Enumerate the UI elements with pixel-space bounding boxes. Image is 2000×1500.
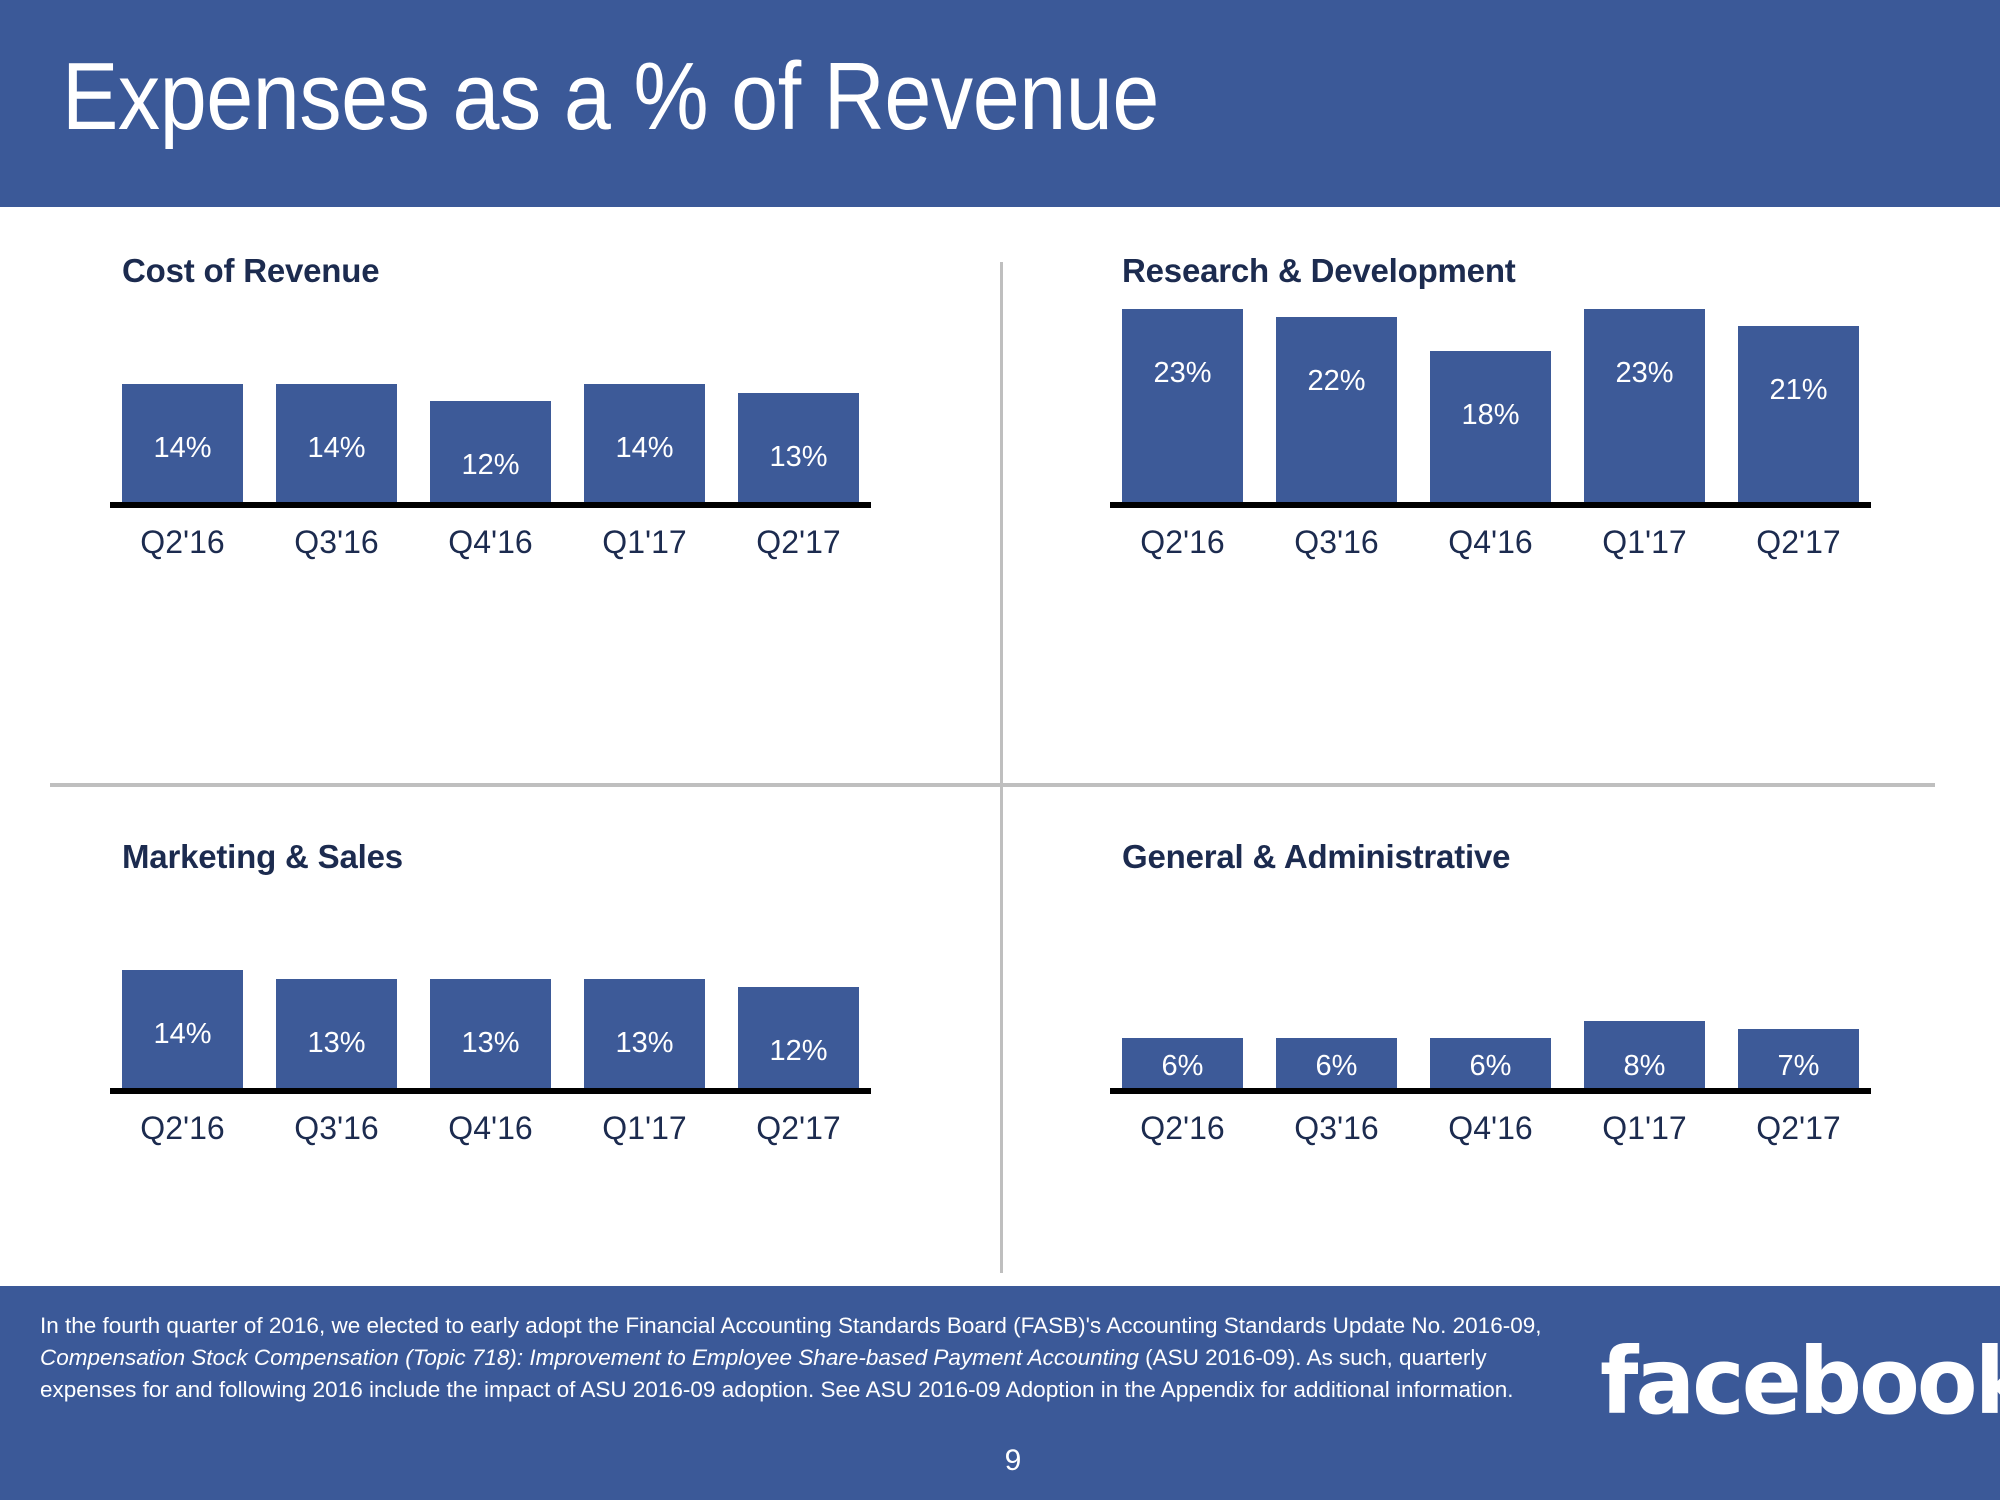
- x-axis-tick-label: Q2'16: [122, 1110, 243, 1147]
- footnote-text: In the fourth quarter of 2016, we electe…: [40, 1310, 1600, 1406]
- x-axis-tick-label: Q2'16: [1122, 524, 1243, 561]
- bar: [1122, 309, 1243, 502]
- chart-panel-cost-of-revenue: Cost of Revenue14%14%12%14%13%Q2'16Q3'16…: [122, 252, 912, 732]
- x-axis-tick-label: Q4'16: [1430, 1110, 1551, 1147]
- x-axis-line: [1110, 502, 1871, 508]
- bar: [1276, 1038, 1397, 1088]
- slide-header-band: Expenses as a % of Revenue: [0, 0, 2000, 207]
- page-title: Expenses as a % of Revenue: [62, 22, 1159, 172]
- footnote-line-2-rest: (ASU 2016-09). As such, quarterly: [1139, 1345, 1487, 1370]
- x-axis-tick-label: Q2'17: [738, 1110, 859, 1147]
- footnote-line-2-italic: Compensation Stock Compensation (Topic 7…: [40, 1345, 1139, 1370]
- x-axis-tick-label: Q2'16: [122, 524, 243, 561]
- bar: [1738, 326, 1859, 502]
- bar: [1276, 317, 1397, 502]
- page-number: 9: [0, 1444, 2000, 1478]
- bar: [122, 970, 243, 1088]
- bar: [738, 393, 859, 502]
- bar: [1122, 1038, 1243, 1088]
- bar: [430, 979, 551, 1088]
- footnote-line-1: In the fourth quarter of 2016, we electe…: [40, 1313, 1541, 1338]
- bar: [584, 979, 705, 1088]
- bar: [276, 384, 397, 502]
- bar: [276, 979, 397, 1088]
- slide: Expenses as a % of Revenue Cost of Reven…: [0, 0, 2000, 1500]
- x-axis-tick-label: Q1'17: [1584, 524, 1705, 561]
- bar: [1584, 309, 1705, 502]
- x-axis-tick-label: Q2'17: [1738, 1110, 1859, 1147]
- x-axis-tick-label: Q3'16: [1276, 1110, 1397, 1147]
- horizontal-divider: [50, 783, 1935, 787]
- x-axis-tick-label: Q2'17: [738, 524, 859, 561]
- chart-panel-general-administrative: General & Administrative6%6%6%8%7%Q2'16Q…: [1122, 838, 1912, 1318]
- bar: [1430, 351, 1551, 502]
- x-axis-line: [110, 1088, 871, 1094]
- x-axis-tick-label: Q3'16: [276, 524, 397, 561]
- x-axis-tick-label: Q2'16: [1122, 1110, 1243, 1147]
- x-axis-tick-label: Q3'16: [276, 1110, 397, 1147]
- bar: [584, 384, 705, 502]
- footnote-line-3: expenses for and following 2016 include …: [40, 1377, 1514, 1402]
- x-axis-tick-label: Q4'16: [430, 524, 551, 561]
- vertical-divider: [1000, 262, 1003, 1273]
- x-axis-tick-label: Q1'17: [584, 1110, 705, 1147]
- x-axis-tick-label: Q2'17: [1738, 524, 1859, 561]
- x-axis-tick-label: Q4'16: [430, 1110, 551, 1147]
- bar: [1738, 1029, 1859, 1088]
- bar: [738, 987, 859, 1088]
- x-axis-tick-label: Q4'16: [1430, 524, 1551, 561]
- bar: [430, 401, 551, 502]
- chart-plot-area-marketing-sales: 14%13%13%13%12%Q2'16Q3'16Q4'16Q1'17Q2'17: [122, 838, 912, 1198]
- chart-plot-area-general-administrative: 6%6%6%8%7%Q2'16Q3'16Q4'16Q1'17Q2'17: [1122, 838, 1912, 1198]
- bar: [1584, 1021, 1705, 1088]
- chart-plot-area-cost-of-revenue: 14%14%12%14%13%Q2'16Q3'16Q4'16Q1'17Q2'17: [122, 252, 912, 612]
- facebook-logo: facebook: [1600, 1328, 2000, 1435]
- x-axis-tick-label: Q1'17: [1584, 1110, 1705, 1147]
- x-axis-line: [110, 502, 871, 508]
- chart-panel-marketing-sales: Marketing & Sales14%13%13%13%12%Q2'16Q3'…: [122, 838, 912, 1318]
- x-axis-tick-label: Q3'16: [1276, 524, 1397, 561]
- chart-panel-research-development: Research & Development23%22%18%23%21%Q2'…: [1122, 252, 1912, 732]
- bar: [1430, 1038, 1551, 1088]
- bar: [122, 384, 243, 502]
- x-axis-line: [1110, 1088, 1871, 1094]
- x-axis-tick-label: Q1'17: [584, 524, 705, 561]
- chart-plot-area-research-development: 23%22%18%23%21%Q2'16Q3'16Q4'16Q1'17Q2'17: [1122, 252, 1912, 612]
